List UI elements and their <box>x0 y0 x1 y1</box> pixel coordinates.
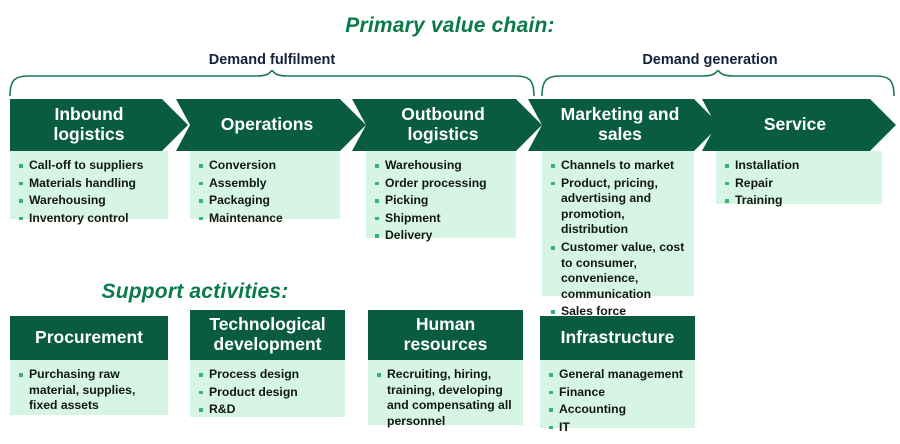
list-item: IT <box>548 420 689 436</box>
list-item: Call-off to suppliers <box>18 158 162 174</box>
chain-node-title-line2: logistics <box>54 124 125 144</box>
chain-node-operations[interactable]: Operations Conversion Assembly Packaging… <box>176 99 366 219</box>
list-item: Installation <box>724 158 876 174</box>
list-item: Conversion <box>198 158 334 174</box>
support-node-infrastructure[interactable]: Infrastructure General management Financ… <box>540 316 695 428</box>
list-item: Purchasing raw material, supplies, fixed… <box>18 367 162 414</box>
chain-node-header: Inbound logistics <box>10 99 188 151</box>
support-node-bullet-list: Process design Product design R&D <box>198 367 339 418</box>
list-item: Packaging <box>198 193 334 209</box>
support-node-body: Process design Product design R&D <box>190 360 345 417</box>
support-node-header: Technological development <box>190 310 345 360</box>
support-node-title-line1: Human <box>416 314 475 334</box>
chain-node-header: Outbound logistics <box>352 99 542 151</box>
list-item: Assembly <box>198 176 334 192</box>
support-node-title-line1: Procurement <box>35 327 143 347</box>
chain-node-bullet-list: Conversion Assembly Packaging Maintenanc… <box>198 158 334 226</box>
support-node-title-line2: development <box>214 334 322 354</box>
chain-node-body: Warehousing Order processing Picking Shi… <box>366 151 516 238</box>
list-item: R&D <box>198 402 339 418</box>
chain-node-outbound-logistics[interactable]: Outbound logistics Warehousing Order pro… <box>352 99 542 238</box>
list-item: Channels to market <box>550 158 688 174</box>
list-item: Product design <box>198 385 339 401</box>
primary-value-chain-title: Primary value chain: <box>0 14 900 38</box>
list-item: Recruiting, hiring, training, developing… <box>376 367 517 429</box>
support-node-human-resources[interactable]: Human resources Recruiting, hiring, trai… <box>368 310 523 425</box>
list-item: Materials handling <box>18 176 162 192</box>
support-node-title-line2: resources <box>404 334 488 354</box>
chain-node-service[interactable]: Service Installation Repair Training <box>702 99 896 204</box>
list-item: Warehousing <box>18 193 162 209</box>
support-node-technological-development[interactable]: Technological development Process design… <box>190 310 345 417</box>
chain-node-title-line1: Outbound <box>401 104 485 124</box>
support-node-header: Human resources <box>368 310 523 360</box>
brace-demand-fulfilment <box>8 70 536 96</box>
list-item: Finance <box>548 385 689 401</box>
brace-demand-generation <box>540 70 896 96</box>
chain-node-inbound-logistics[interactable]: Inbound logistics Call-off to suppliers … <box>10 99 188 219</box>
group-label-demand-generation: Demand generation <box>610 52 810 68</box>
list-item: Repair <box>724 176 876 192</box>
support-node-bullet-list: General management Finance Accounting IT <box>548 367 689 435</box>
chain-node-header: Operations <box>176 99 366 151</box>
chain-node-body: Channels to market Product, pricing, adv… <box>542 151 694 296</box>
chain-node-body: Conversion Assembly Packaging Maintenanc… <box>190 151 340 219</box>
chain-node-marketing-and-sales[interactable]: Marketing and sales Channels to market P… <box>528 99 720 296</box>
list-item: General management <box>548 367 689 383</box>
list-item: Customer value, cost to consumer, conven… <box>550 240 688 302</box>
chain-node-body: Call-off to suppliers Materials handling… <box>10 151 168 219</box>
support-node-title-line1: Infrastructure <box>561 327 675 347</box>
chain-node-bullet-list: Call-off to suppliers Materials handling… <box>18 158 162 226</box>
list-item: Process design <box>198 367 339 383</box>
list-item: Shipment <box>374 211 510 227</box>
chain-node-header: Marketing and sales <box>528 99 720 151</box>
list-item: Warehousing <box>374 158 510 174</box>
support-node-header: Procurement <box>10 316 168 360</box>
chain-node-title-line1: Inbound <box>54 104 123 124</box>
chain-node-body: Installation Repair Training <box>716 151 882 204</box>
list-item: Picking <box>374 193 510 209</box>
list-item: Product, pricing, advertising and promot… <box>550 176 688 238</box>
chain-node-title-line2: logistics <box>407 124 478 144</box>
support-node-bullet-list: Recruiting, hiring, training, developing… <box>376 367 517 429</box>
support-node-procurement[interactable]: Procurement Purchasing raw material, sup… <box>10 316 168 415</box>
chain-node-title-line1: Service <box>764 114 826 134</box>
group-label-demand-fulfilment: Demand fulfilment <box>172 52 372 68</box>
chain-node-title-line2: sales <box>598 124 642 144</box>
list-item: Delivery <box>374 228 510 244</box>
support-node-body: General management Finance Accounting IT <box>540 360 695 428</box>
list-item: Accounting <box>548 402 689 418</box>
support-node-body: Purchasing raw material, supplies, fixed… <box>10 360 168 415</box>
support-activities-title: Support activities: <box>0 280 390 304</box>
chain-node-bullet-list: Channels to market Product, pricing, adv… <box>550 158 688 336</box>
list-item: Inventory control <box>18 211 162 227</box>
list-item: Order processing <box>374 176 510 192</box>
chain-node-title-line1: Operations <box>221 114 313 134</box>
chain-node-bullet-list: Installation Repair Training <box>724 158 876 209</box>
chain-node-title-line1: Marketing and <box>561 104 680 124</box>
list-item: Training <box>724 193 876 209</box>
support-node-bullet-list: Purchasing raw material, supplies, fixed… <box>18 367 162 414</box>
support-node-header: Infrastructure <box>540 316 695 360</box>
support-node-title-line1: Technological <box>209 314 325 334</box>
support-node-body: Recruiting, hiring, training, developing… <box>368 360 523 425</box>
chain-node-bullet-list: Warehousing Order processing Picking Shi… <box>374 158 510 244</box>
chain-node-header: Service <box>702 99 896 151</box>
list-item: Maintenance <box>198 211 334 227</box>
